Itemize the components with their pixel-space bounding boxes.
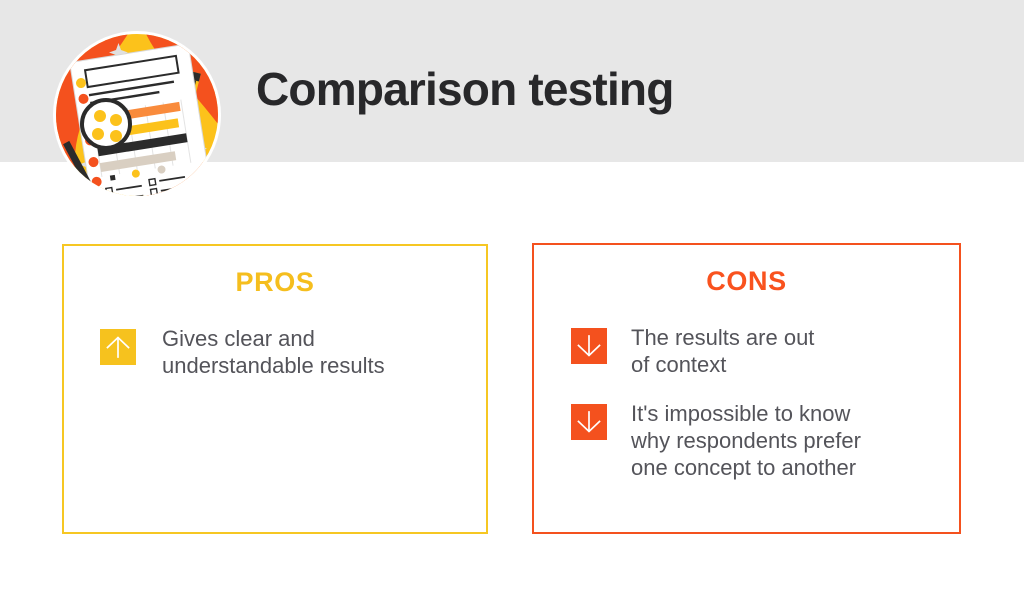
survey-document-magnifier-pencil-icon (50, 28, 224, 202)
list-item-text: The results are out of context (631, 324, 814, 378)
list-item: Gives clear and understandable results (64, 325, 486, 379)
arrow-down-icon (571, 328, 607, 364)
pros-item-list: Gives clear and understandable results (64, 325, 486, 379)
list-item-text: Gives clear and understandable results (162, 325, 385, 379)
arrow-up-icon (100, 329, 136, 365)
page-title: Comparison testing (256, 62, 674, 116)
list-item: It's impossible to know why respondents … (534, 400, 959, 481)
cons-item-list: The results are out of context It's impo… (534, 324, 959, 481)
arrow-down-icon (571, 404, 607, 440)
pros-panel: PROS Gives clear and understandable resu… (62, 244, 488, 534)
cons-heading: CONS (534, 266, 959, 297)
cons-panel: CONS The results are out of context It's… (532, 243, 961, 534)
header-illustration (50, 28, 224, 202)
pros-heading: PROS (64, 267, 486, 298)
list-item: The results are out of context (534, 324, 959, 378)
list-item-text: It's impossible to know why respondents … (631, 400, 861, 481)
